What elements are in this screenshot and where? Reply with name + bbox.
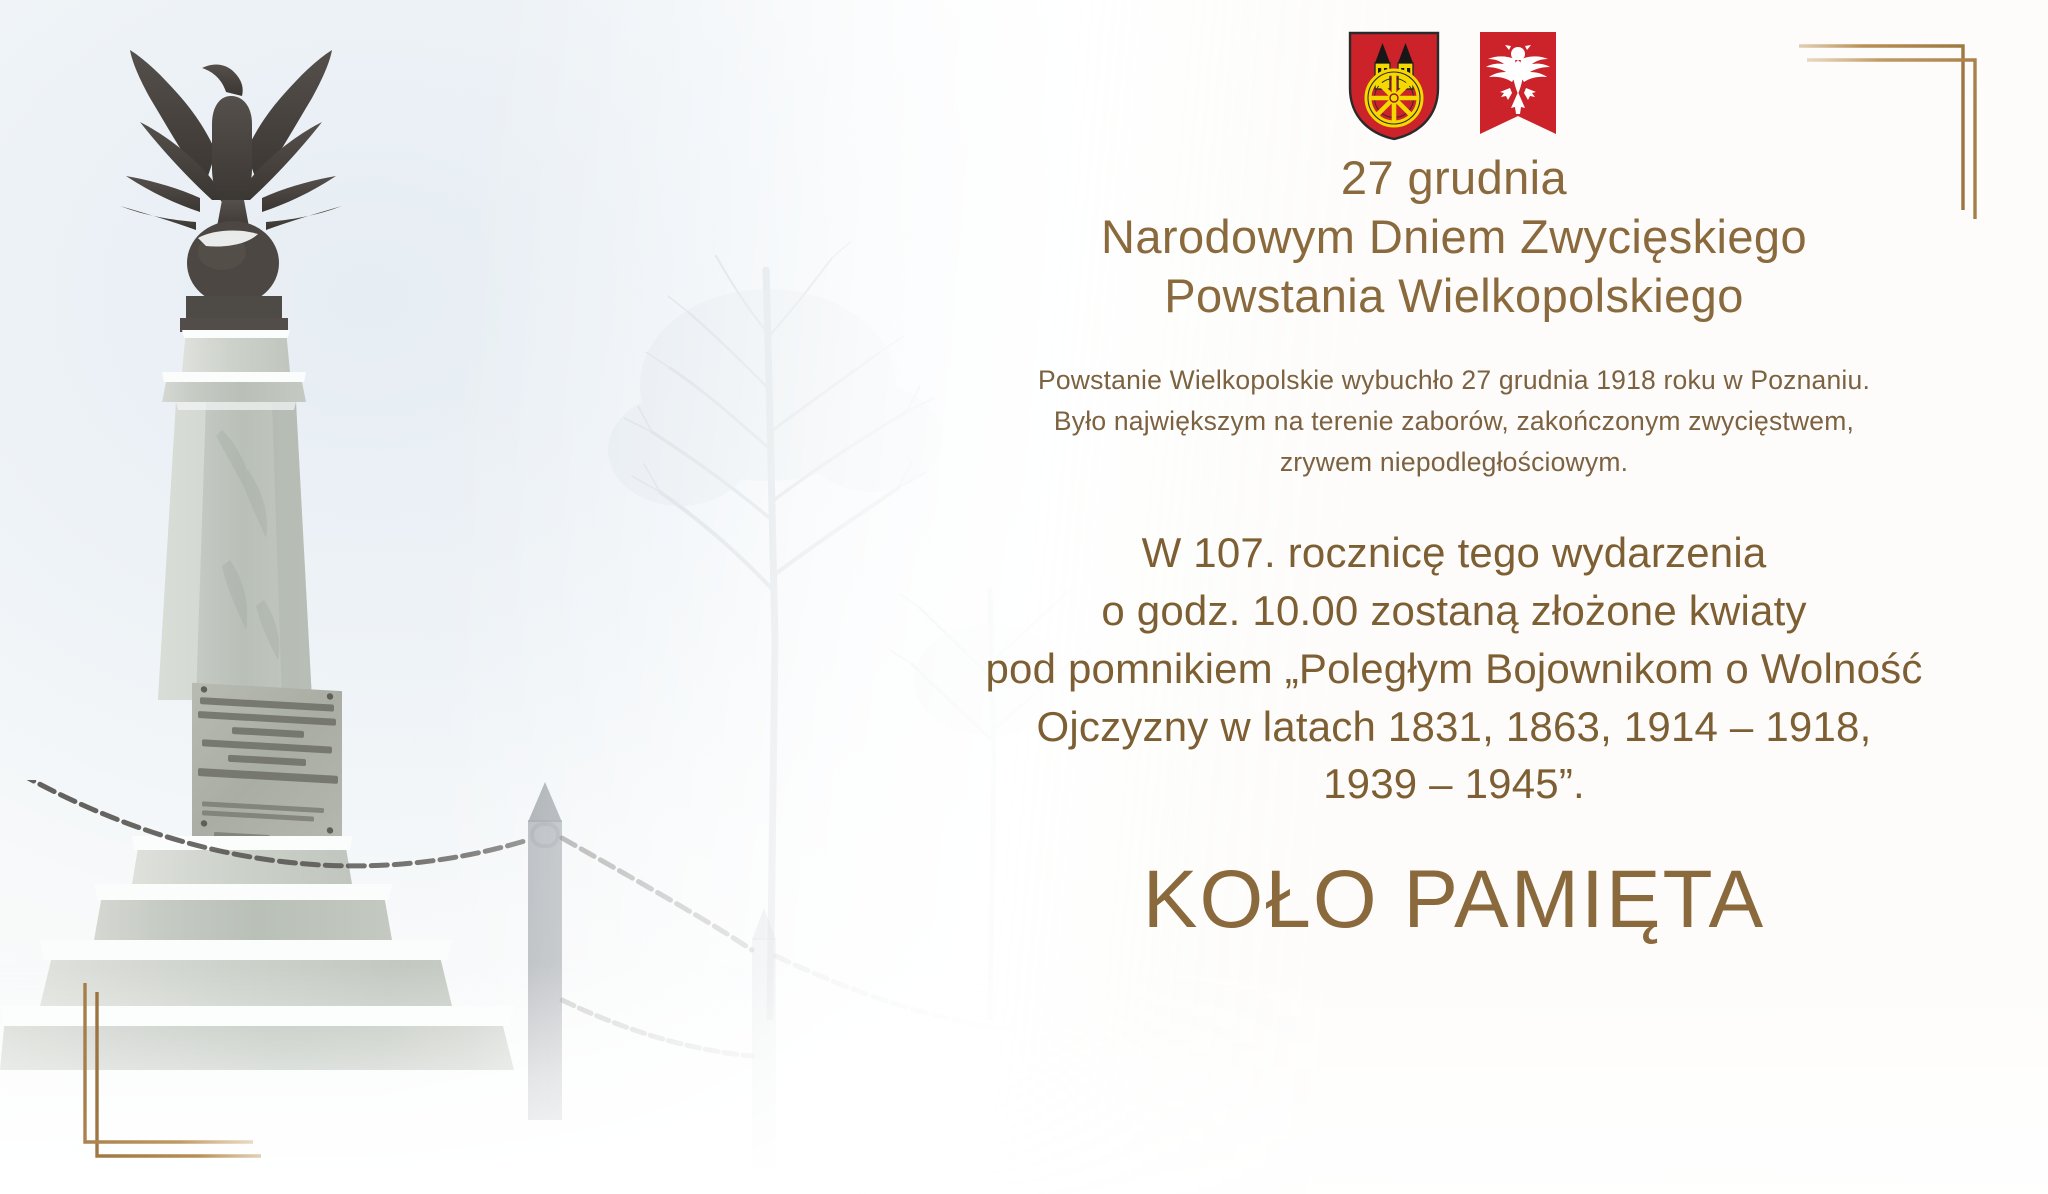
intro-paragraph: Powstanie Wielkopolskie wybuchło 27 grud…: [860, 360, 2048, 484]
headline-line-1: 27 grudnia: [860, 148, 2048, 207]
slogan: KOŁO PAMIĘTA: [860, 859, 2048, 941]
headline-line-2: Narodowym Dniem Zwycięskiego: [860, 207, 2048, 266]
coat-of-arms-wielkopolska-icon: [1475, 30, 1561, 142]
intro-line-3: zrywem niepodległościowym.: [860, 442, 2048, 483]
intro-line-1: Powstanie Wielkopolskie wybuchło 27 grud…: [860, 360, 2048, 401]
headline-line-3: Powstania Wielkopolskiego: [860, 266, 2048, 325]
content-column: 27 grudnia Narodowym Dniem Zwycięskiego …: [860, 0, 2048, 1194]
announcement-line-5: 1939 – 1945”.: [860, 755, 2048, 813]
announcement-line-4: Ojczyzny w latach 1831, 1863, 1914 – 191…: [860, 698, 2048, 756]
poster-canvas: 27 grudnia Narodowym Dniem Zwycięskiego …: [0, 0, 2048, 1194]
announcement-line-1: W 107. rocznicę tego wydarzenia: [860, 524, 2048, 582]
announcement-line-2: o godz. 10.00 zostaną złożone kwiaty: [860, 582, 2048, 640]
announcement-line-3: pod pomnikiem „Poległym Bojownikom o Wol…: [860, 640, 2048, 698]
corner-frame-bottom-left: [30, 983, 265, 1168]
crest-row: [860, 0, 2048, 130]
headline: 27 grudnia Narodowym Dniem Zwycięskiego …: [860, 148, 2048, 326]
coat-of-arms-kolo-icon: [1347, 30, 1441, 142]
announcement: W 107. rocznicę tego wydarzenia o godz. …: [860, 524, 2048, 814]
intro-line-2: Było największym na terenie zaborów, zak…: [860, 401, 2048, 442]
